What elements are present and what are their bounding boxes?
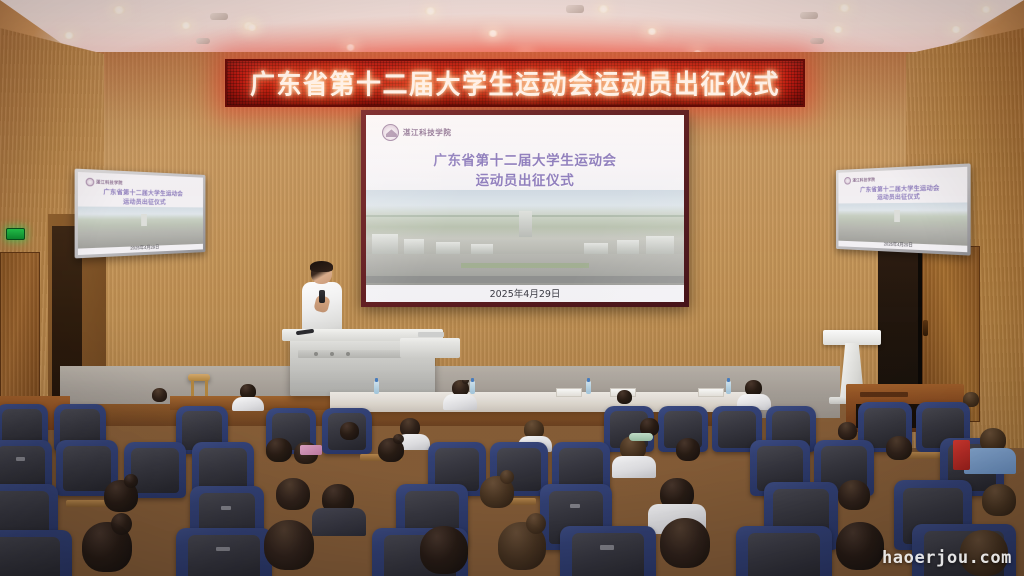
audience-head [960,530,1008,576]
seat-cushion [718,411,756,448]
audience-shoulders [443,394,477,410]
projection-screen-surface: 湛江科技学院 广东省第十二届大学生运动会 运动员出征仪式 [366,115,684,302]
audience-head [340,422,359,440]
side-monitor-right-screen: 湛江科技学院 广东省第十二届大学生运动会 运动员出征仪式 2025年4月29日 [838,167,967,252]
audience-head [480,476,514,508]
audience-shoulders [232,397,264,411]
audience-head [886,436,912,460]
monitor-left-photo-tower [141,214,147,226]
university-emblem-icon [85,177,94,186]
slide-date: 2025年4月29日 [366,286,684,300]
photo-central-tower [519,211,532,237]
ceiling-downlight [63,32,75,39]
slide-university-logo: 湛江科技学院 [382,124,452,141]
ceiling-downlight [112,6,126,14]
ceiling-downlight [832,26,844,33]
ceiling-speaker [566,5,584,13]
seat-number-tag [600,545,613,549]
monitor-left-photo [78,207,203,249]
auditorium-photo: 广东省第十二届大学生运动会运动员出征仪式 湛江科技学院 广东省第十二届大学生运动… [0,0,1024,576]
laptop-on-console [418,332,444,337]
seat-cushion [0,537,60,576]
audience-head [676,438,700,461]
audience-head [264,520,314,570]
ceiling-speaker [196,38,210,44]
photo-road [366,276,684,283]
led-banner-text: 广东省第十二届大学生运动会运动员出征仪式 [250,64,780,102]
console-knob[interactable] [346,352,350,356]
microphone-icon [319,290,325,303]
photo-lawn [461,263,588,268]
audience-head [266,438,292,462]
ceiling-downlight [646,28,658,35]
seat[interactable] [736,526,832,576]
audience-head [982,484,1016,516]
presenter-hair [310,261,333,272]
red-folder [953,440,970,470]
seat-number-tag [221,506,231,511]
console-knob[interactable] [314,352,318,356]
monitor-left-logo: 湛江科技学院 [85,177,123,187]
ceiling-downlight [597,5,610,13]
ceiling-downlight [838,4,851,12]
audience-head [420,526,468,574]
audience-head [82,522,132,572]
lectern-top [823,330,881,345]
ceiling-downlight [180,22,192,29]
seat-cushion [572,533,645,576]
seat-cushion [131,448,178,493]
slide-campus-photo [366,190,684,287]
side-monitor-left-screen: 湛江科技学院 广东省第十二届大学生运动会 运动员出征仪式 2025年4月29日 [78,172,203,255]
slide-title: 广东省第十二届大学生运动会 运动员出征仪式 [366,152,684,191]
seat-cushion [188,535,261,576]
ceiling-downlight [345,44,356,51]
exit-sign-icon [6,228,25,240]
university-emblem-icon [844,177,851,185]
seat-number-tag [16,457,25,461]
photo-building [646,236,674,256]
photo-building [372,234,398,256]
slide-logo-text: 湛江科技学院 [403,127,452,138]
console-knob[interactable] [330,352,334,356]
monitor-left-logo-text: 湛江科技学院 [96,179,123,186]
audience-head [838,422,857,440]
monitor-right-logo-text: 湛江科技学院 [852,177,875,184]
audience-head [276,478,310,510]
monitor-right-title: 广东省第十二届大学生运动会 运动员出征仪式 [838,184,967,204]
ceiling-speaker [810,38,824,44]
ceiling-downlight [487,30,499,37]
audience-head [836,522,884,570]
audience-head [838,480,870,510]
slide-title-line1: 广东省第十二届大学生运动会 [366,152,684,172]
seat[interactable] [560,526,656,576]
ceiling-downlight [980,6,992,13]
ceiling-speaker [800,12,818,19]
projection-screen: 湛江科技学院 广东省第十二届大学生运动会 运动员出征仪式 [361,110,689,307]
door-handle-icon[interactable] [923,320,928,336]
monitor-right-photo [838,203,967,246]
ceiling-speaker [210,13,228,20]
seat-number-tag [570,504,580,509]
ceiling-downlight [950,26,962,33]
monitor-left-title: 广东省第十二届大学生运动会 运动员出征仪式 [78,189,203,209]
monitor-right-photo-tower [894,210,900,222]
ceiling-downlight [424,7,437,15]
seat[interactable] [176,528,272,576]
audience-head [660,518,710,568]
side-monitor-right: 湛江科技学院 广东省第十二届大学生运动会 运动员出征仪式 2025年4月29日 [836,163,971,255]
audience-seating [0,380,1024,576]
seat-cushion [748,533,821,576]
pink-item [300,445,322,455]
audience-shoulders [312,508,366,536]
audience-head [378,438,404,462]
audience-head [152,388,167,402]
led-banner: 广东省第十二届大学生运动会运动员出征仪式 [225,59,805,107]
slide-title-line2: 运动员出征仪式 [366,172,684,192]
side-monitor-left: 湛江科技学院 广东省第十二届大学生运动会 运动员出征仪式 2025年4月29日 [75,169,206,259]
university-emblem-icon [382,124,399,141]
seat-cushion [63,446,110,491]
ceiling-downlight [246,24,258,31]
audience-head [617,390,632,404]
seat-number-tag [216,547,229,551]
console-extension [400,338,460,358]
monitor-right-logo: 湛江科技学院 [844,176,875,185]
audience-shoulders [612,456,656,478]
audience-head [498,522,546,570]
audience-head [104,480,138,512]
seat[interactable] [0,530,72,576]
headband [629,433,653,441]
audience-shoulders [964,448,1016,474]
